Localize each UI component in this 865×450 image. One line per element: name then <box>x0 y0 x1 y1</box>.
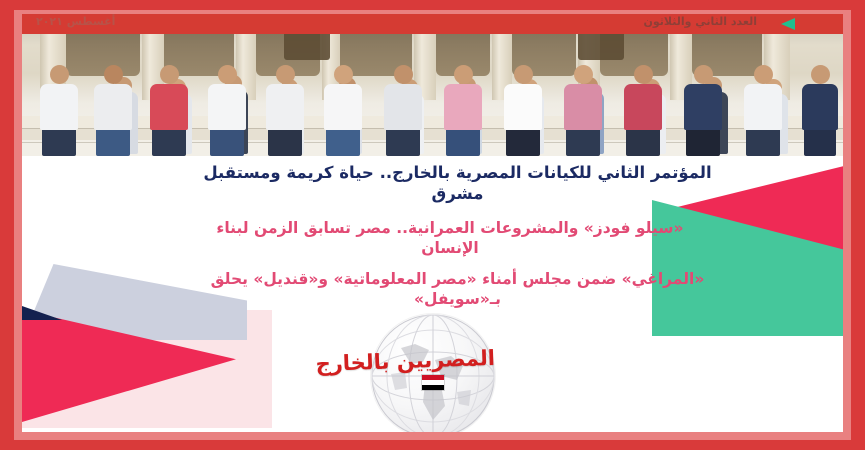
issue-label: العدد الثاني والثلاثون <box>643 15 757 28</box>
date-label: أغسطس ٢٠٢١ <box>36 15 115 28</box>
headline-third: «المراغي» ضمن مجلس أمناء «مصر المعلوماتي… <box>22 269 843 309</box>
cover-page: العدد الثاني والثلاثون أغسطس ٢٠٢١ المؤتم… <box>22 14 843 432</box>
logo: المصريين بالخارج <box>371 314 495 432</box>
group-photo <box>22 14 843 156</box>
headline-second: «سيلو فودز» والمشروعات العمرانية.. مصر ت… <box>22 218 843 258</box>
triangle-left-icon <box>781 18 795 30</box>
newsletter-cover: العدد الثاني والثلاثون أغسطس ٢٠٢١ المؤتم… <box>0 0 865 450</box>
egypt-flag-icon <box>421 374 445 391</box>
headline-main: المؤتمر الثاني للكيانات المصرية بالخارج.… <box>22 162 843 204</box>
masthead-strip: العدد الثاني والثلاثون أغسطس ٢٠٢١ <box>22 14 843 34</box>
logo-wordmark: المصريين بالخارج <box>370 346 495 374</box>
headline-block: المؤتمر الثاني للكيانات المصرية بالخارج.… <box>22 162 843 309</box>
